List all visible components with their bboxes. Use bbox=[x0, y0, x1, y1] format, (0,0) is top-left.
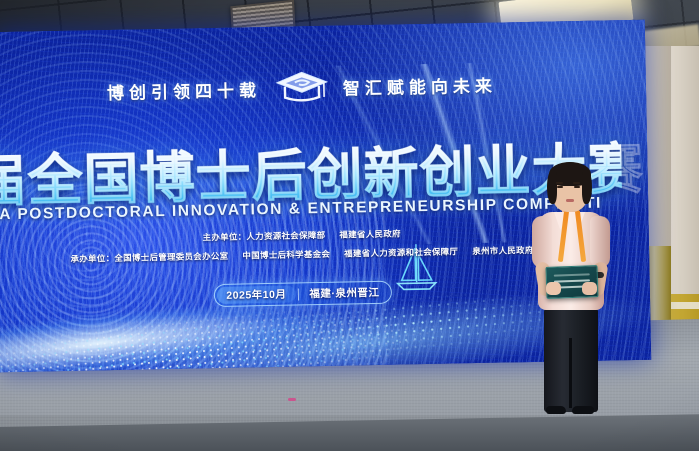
floor-marker bbox=[288, 398, 296, 401]
organizer-1: 人力资源社会保障部 bbox=[246, 230, 325, 242]
placard-text-line bbox=[554, 273, 590, 276]
presenter-person bbox=[516, 160, 636, 410]
hair-side-right bbox=[582, 170, 592, 204]
eyebrow-left bbox=[556, 182, 563, 184]
sleeve-left bbox=[532, 216, 552, 268]
graduation-cap-logo bbox=[275, 70, 330, 105]
hand-right bbox=[582, 282, 597, 295]
pill-divider bbox=[297, 288, 298, 300]
tagline-right: 智汇赋能向未来 bbox=[343, 71, 497, 99]
co-organizer-3: 福建省人力资源和社会保障厅 bbox=[344, 246, 458, 258]
date-location-pill: 2025年10月 福建·泉州晋江 bbox=[214, 281, 391, 307]
co-organizer-1: 全国博士后管理委员会办公室 bbox=[114, 251, 228, 263]
mouth bbox=[566, 199, 574, 202]
organizer-2: 福建省人民政府 bbox=[339, 228, 401, 239]
tagline-left: 博创引领四十载 bbox=[107, 76, 261, 104]
shoe-right bbox=[572, 406, 594, 414]
pill-location: 福建·泉州晋江 bbox=[300, 284, 388, 303]
organizer-label: 主办单位： bbox=[203, 231, 247, 242]
screen-tagline-row: 博创引领四十载 智汇赋能向未来 bbox=[0, 64, 612, 110]
hand-left bbox=[546, 282, 561, 295]
hair-side-left bbox=[547, 170, 557, 204]
co-organizer-2: 中国博士后科学基金会 bbox=[242, 249, 330, 261]
eyebrow-right bbox=[573, 182, 580, 184]
trouser-leg-gap bbox=[569, 338, 572, 408]
shoe-left bbox=[546, 406, 566, 414]
photo-scene: 博创引领四十载 智汇赋能向未来 届全国博士后创新创业大赛 NA POSTDOCT… bbox=[0, 0, 699, 451]
sleeve-right bbox=[590, 216, 610, 268]
co-organizer-label: 承办单位： bbox=[70, 253, 114, 264]
pill-date: 2025年10月 bbox=[217, 286, 295, 304]
